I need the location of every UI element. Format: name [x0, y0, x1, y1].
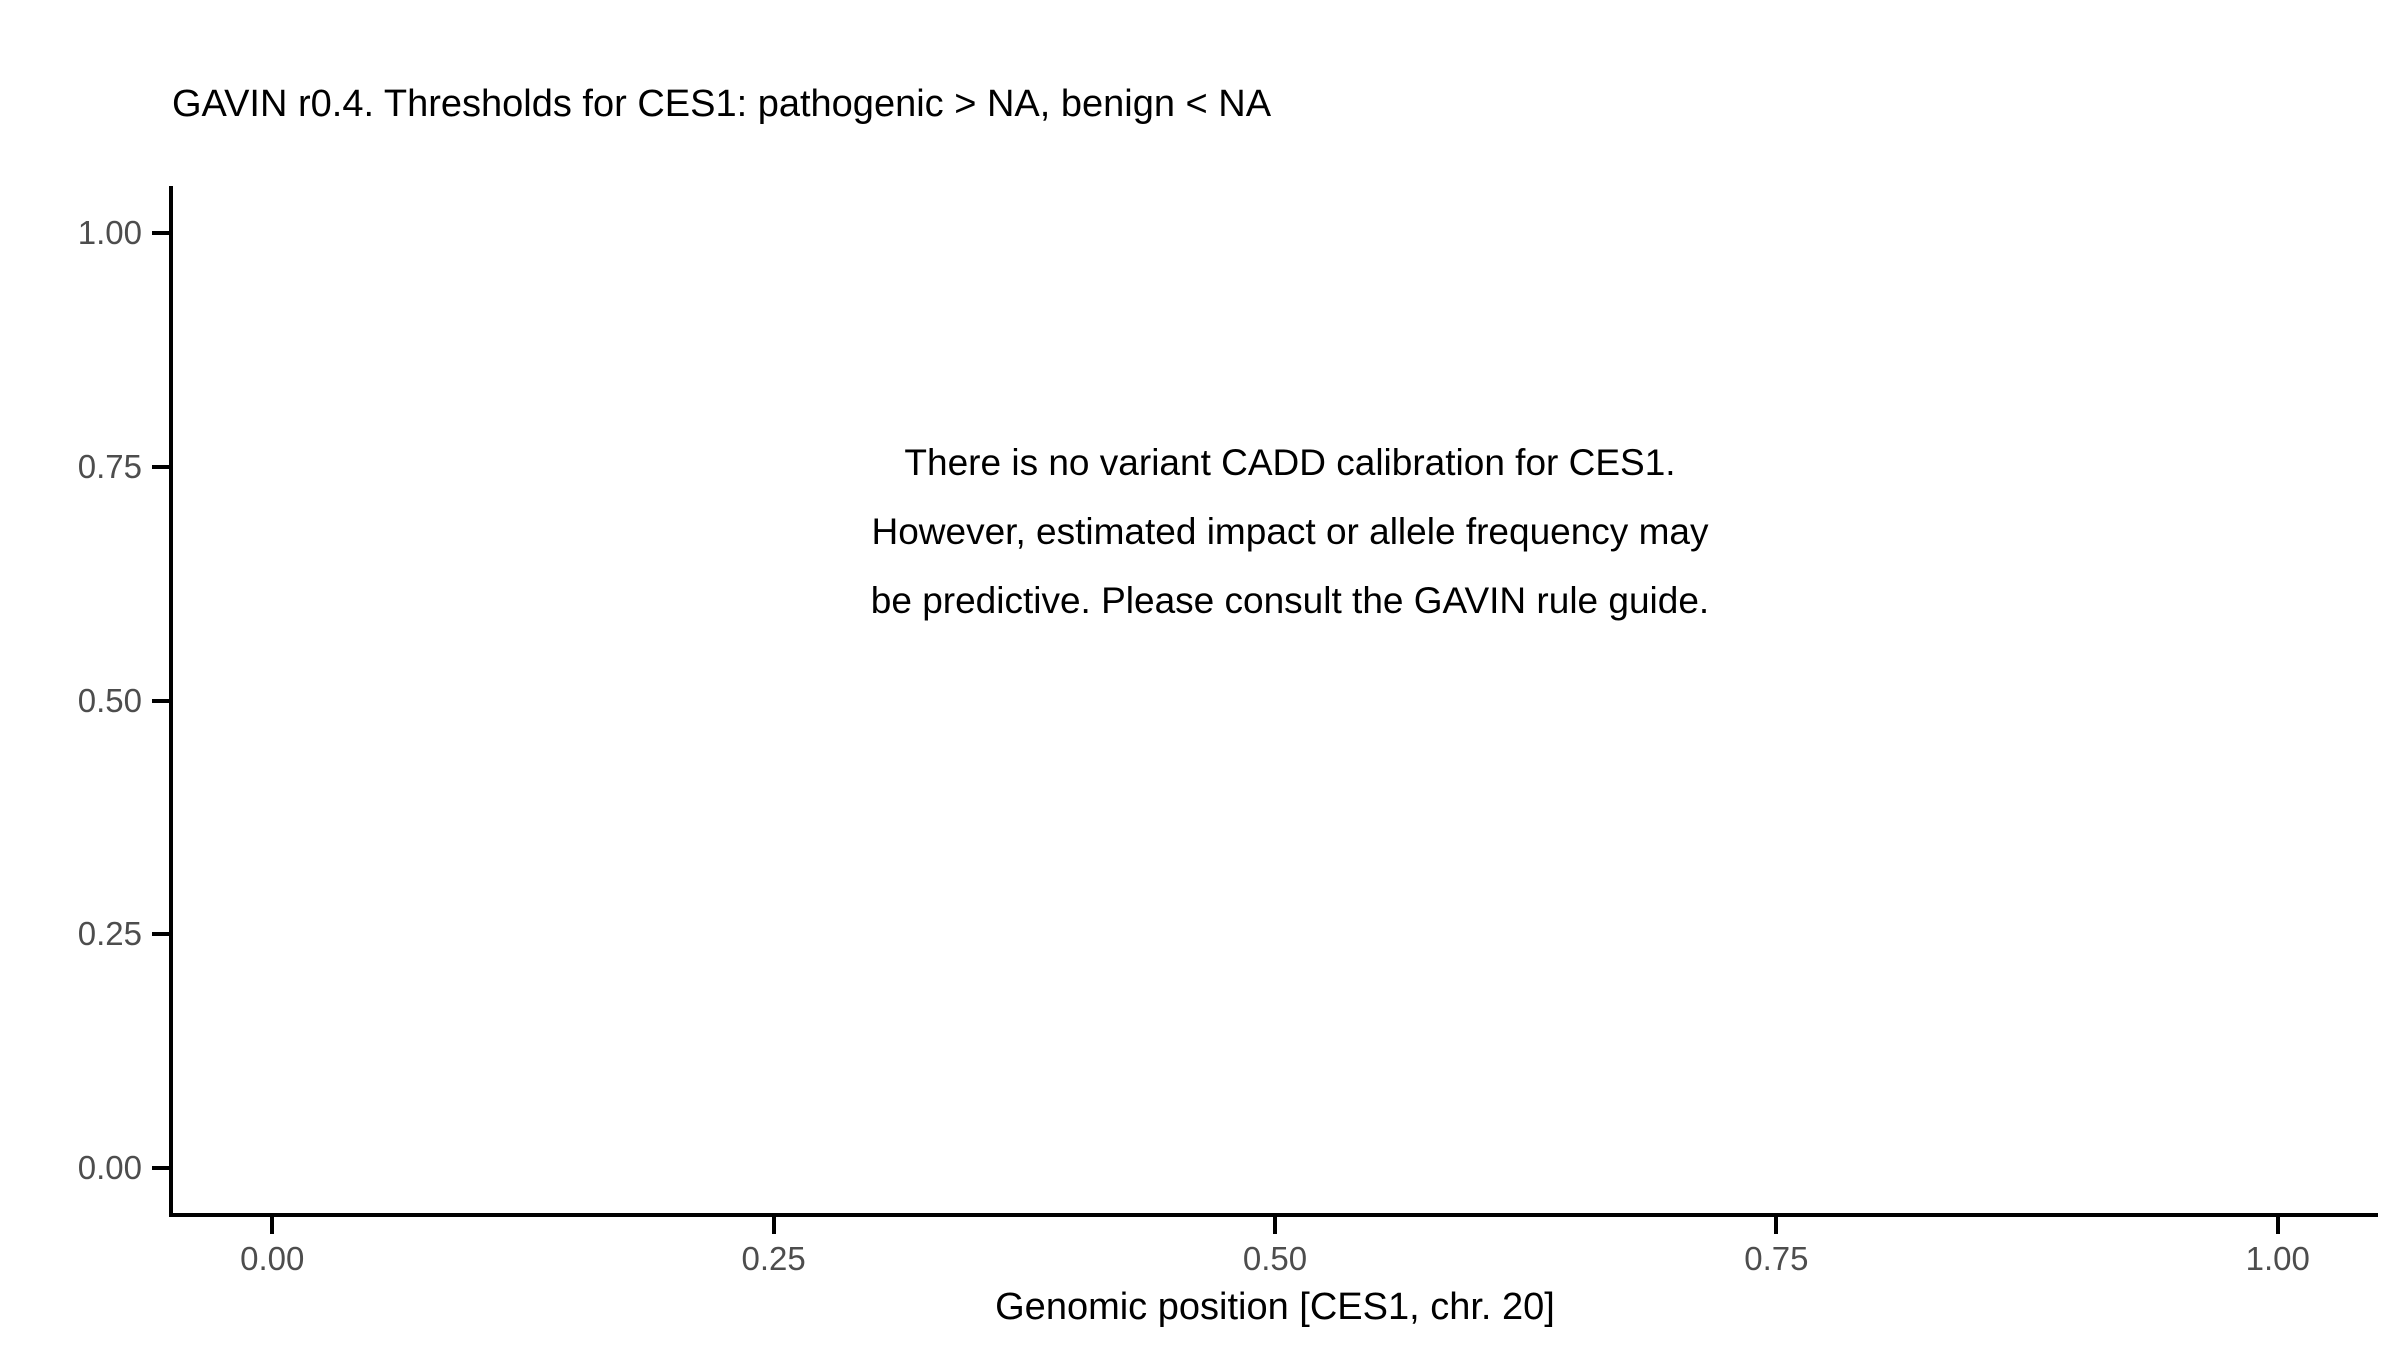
panel-annotation-line-3: be predictive. Please consult the GAVIN … [690, 566, 1890, 635]
y-tick-label: 0.50 [40, 684, 142, 717]
plot-title-line-1: GAVIN r0.4. Thresholds for CES1: pathoge… [172, 85, 2352, 124]
x-tick-mark [1273, 1217, 1277, 1234]
x-tick-label: 1.00 [2198, 1242, 2358, 1275]
y-tick-mark [152, 465, 169, 469]
panel-annotation: There is no variant CADD calibration for… [690, 428, 1890, 635]
x-tick-mark [1774, 1217, 1778, 1234]
plot-panel [172, 186, 2378, 1215]
y-tick-label: 0.00 [40, 1151, 142, 1184]
panel-annotation-line-1: There is no variant CADD calibration for… [690, 428, 1890, 497]
x-tick-mark [2276, 1217, 2280, 1234]
x-tick-label: 0.25 [694, 1242, 854, 1275]
x-tick-label: 0.75 [1696, 1242, 1856, 1275]
y-tick-mark [152, 231, 169, 235]
y-axis-line [169, 186, 173, 1217]
y-tick-label: 1.00 [40, 216, 142, 249]
x-axis-title: Genomic position [CES1, chr. 20] [172, 1285, 2378, 1329]
y-tick-mark [152, 1166, 169, 1170]
y-tick-label: 0.25 [40, 917, 142, 950]
panel-annotation-line-2: However, estimated impact or allele freq… [690, 497, 1890, 566]
x-tick-label: 0.00 [192, 1242, 352, 1275]
x-tick-mark [270, 1217, 274, 1234]
x-tick-label: 0.50 [1195, 1242, 1355, 1275]
gavin-calibration-plot: GAVIN r0.4. Thresholds for CES1: pathoge… [0, 0, 2400, 1350]
y-tick-mark [152, 699, 169, 703]
y-tick-mark [152, 932, 169, 936]
y-tick-label: 0.75 [40, 450, 142, 483]
x-tick-mark [772, 1217, 776, 1234]
